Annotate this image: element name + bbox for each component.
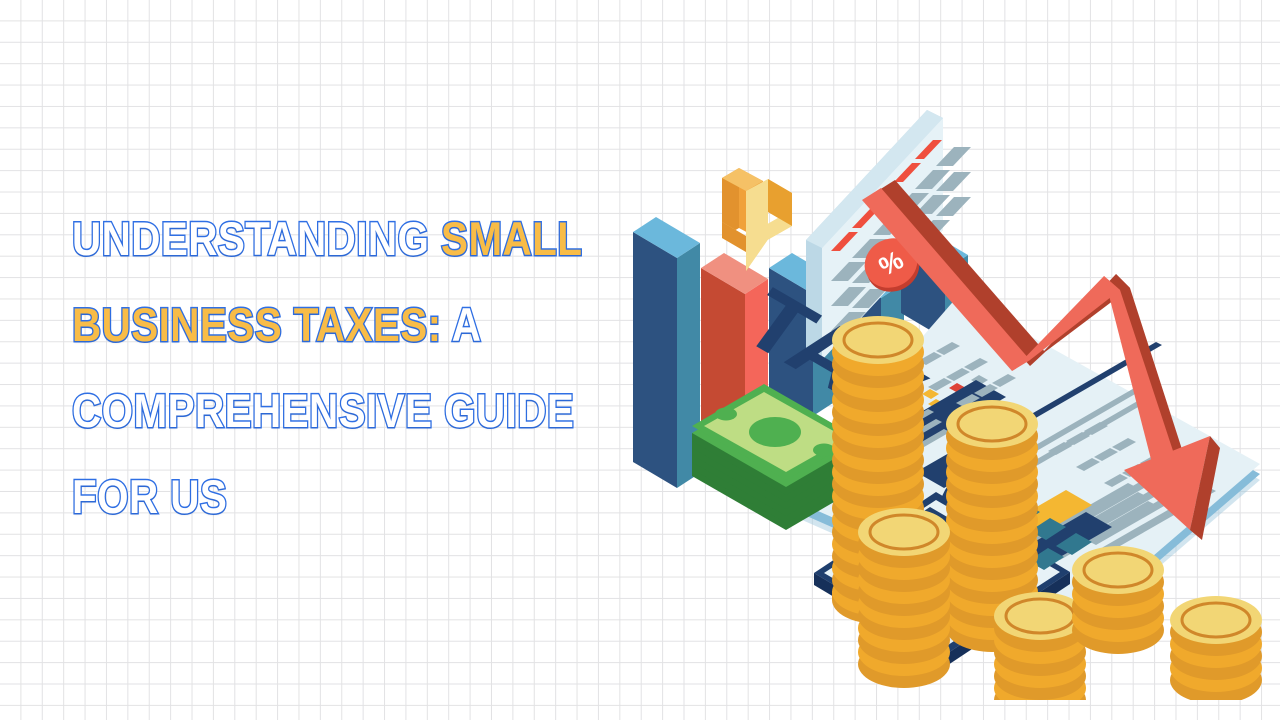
- title-segment-for-us: FOR US: [72, 470, 227, 523]
- tax-illustration: % TAX: [600, 40, 1280, 700]
- title-segment-comprehensive-guide: COMPREHENSIVE GUIDE: [72, 384, 574, 437]
- title-segment-business-taxes: BUSINESS TAXES:: [72, 298, 442, 351]
- page-title: UNDERSTANDING SMALL BUSINESS TAXES: A CO…: [72, 196, 602, 540]
- down-arrow-yellow-icon: [722, 168, 792, 271]
- title-segment-understanding: UNDERSTANDING: [72, 212, 441, 265]
- coin-stack-5: [1072, 546, 1164, 654]
- coin-stack-3: [858, 508, 950, 688]
- title-segment-a: A: [442, 298, 482, 351]
- bar-1: [633, 217, 700, 488]
- title-line-4: FOR US: [72, 454, 528, 540]
- title-line-1: UNDERSTANDING SMALL: [72, 196, 528, 282]
- coin-stack-6: [1170, 596, 1262, 700]
- title-segment-small: SMALL: [441, 212, 582, 265]
- poster-canvas: UNDERSTANDING SMALL BUSINESS TAXES: A CO…: [0, 0, 1280, 720]
- title-line-2: BUSINESS TAXES: A: [72, 282, 528, 368]
- title-line-3: COMPREHENSIVE GUIDE: [72, 368, 528, 454]
